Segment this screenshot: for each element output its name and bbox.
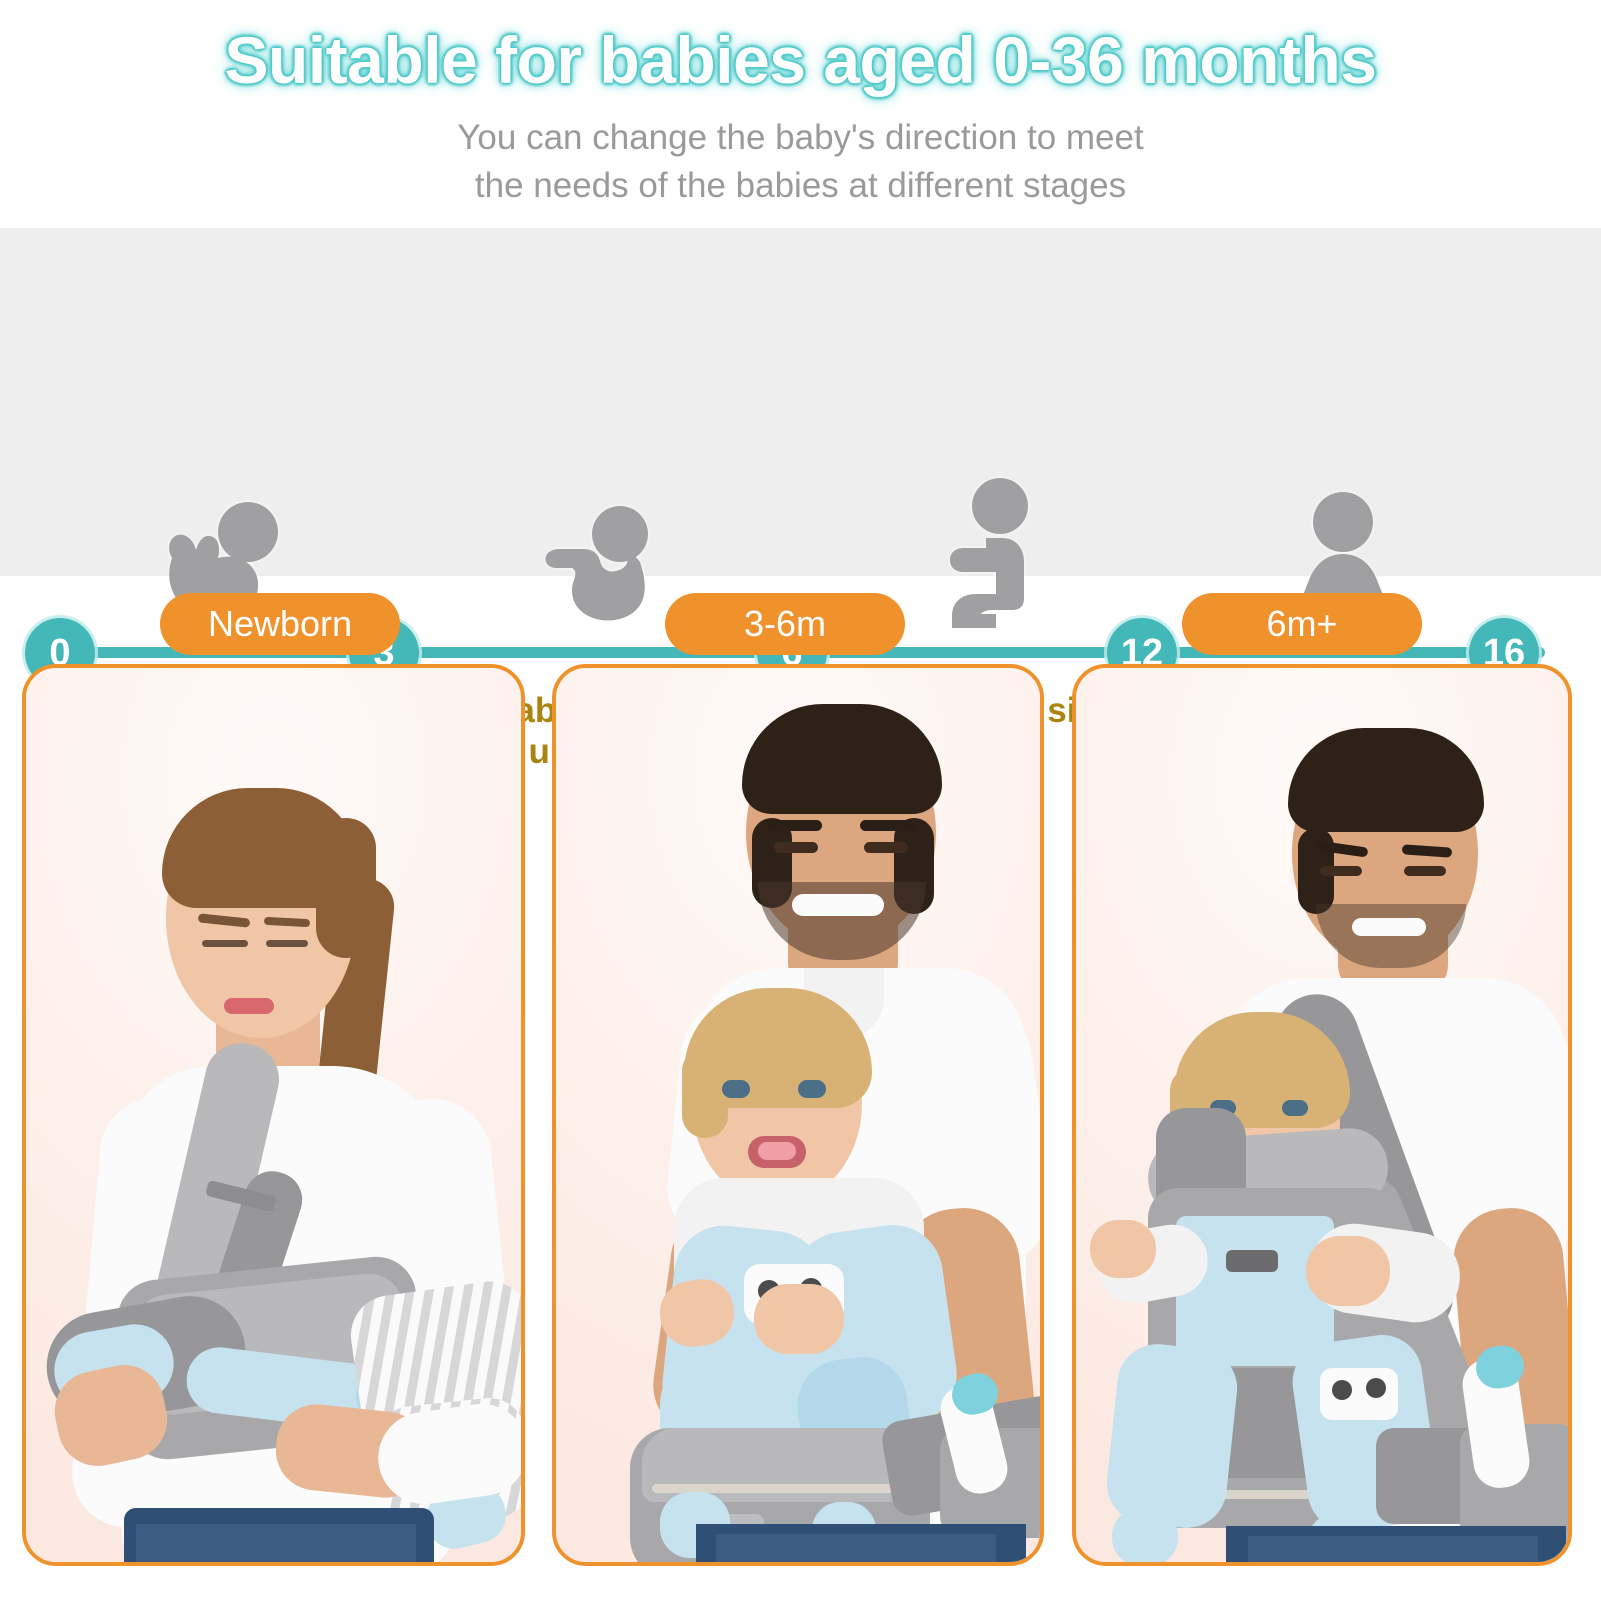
- page-title: Suitable for babies aged 0-36 months: [0, 22, 1601, 98]
- gallery-panel-3-6m[interactable]: [552, 664, 1044, 1566]
- infographic-page: Suitable for babies aged 0-36 months You…: [0, 0, 1601, 1601]
- subtitle-line-1: You can change the baby's direction to m…: [0, 118, 1601, 158]
- gallery-pill-newborn[interactable]: Newborn: [160, 593, 400, 655]
- gallery-pill-3-6m[interactable]: 3-6m: [665, 593, 905, 655]
- photo-father-with-toddler-front-carrier: [1076, 668, 1568, 1562]
- gallery-panel-6m-plus[interactable]: [1072, 664, 1572, 1566]
- age-timeline: 0 3 6 12 16 Newborn 0~3m Baby looking up…: [0, 228, 1601, 576]
- photo-father-with-toddler-outward: [556, 668, 1040, 1562]
- baby-looking-up-icon: [544, 506, 656, 626]
- baby-sitting-icon: [932, 476, 1044, 628]
- gallery-pill-6m-plus[interactable]: 6m+: [1182, 593, 1422, 655]
- subtitle-line-2: the needs of the babies at different sta…: [0, 166, 1601, 206]
- header: Suitable for babies aged 0-36 months You…: [0, 0, 1601, 228]
- gallery-panel-newborn[interactable]: [22, 664, 525, 1566]
- photo-mother-with-newborn: [26, 668, 521, 1562]
